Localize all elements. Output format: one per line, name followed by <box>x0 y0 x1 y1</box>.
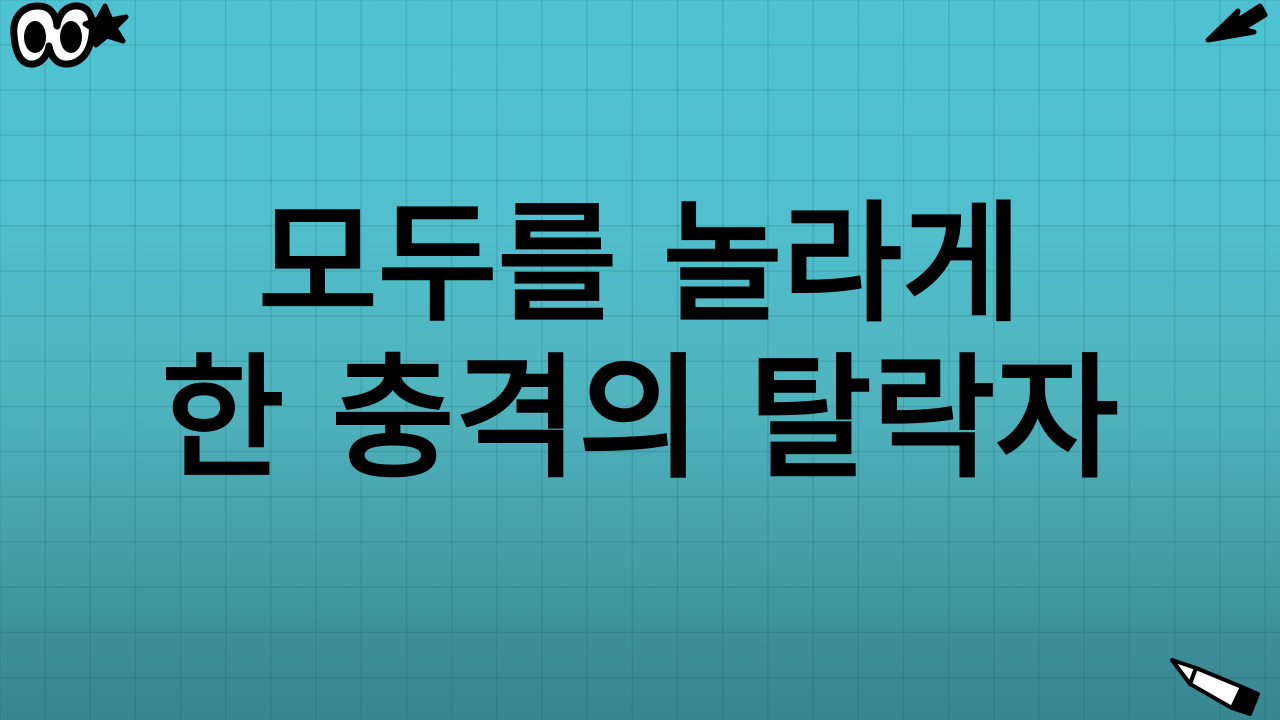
slide-title: 모두를 놀라게 한 충격의 탈락자 <box>0 192 1280 494</box>
star-icon <box>82 2 128 46</box>
arrow-icon <box>1202 2 1272 48</box>
pencil-icon <box>1160 646 1268 716</box>
slide-canvas: 모두를 놀라게 한 충격의 탈락자 <box>0 0 1280 720</box>
title-line-1: 모두를 놀라게 <box>0 192 1280 338</box>
title-line-2: 한 충격의 탈락자 <box>0 344 1280 494</box>
